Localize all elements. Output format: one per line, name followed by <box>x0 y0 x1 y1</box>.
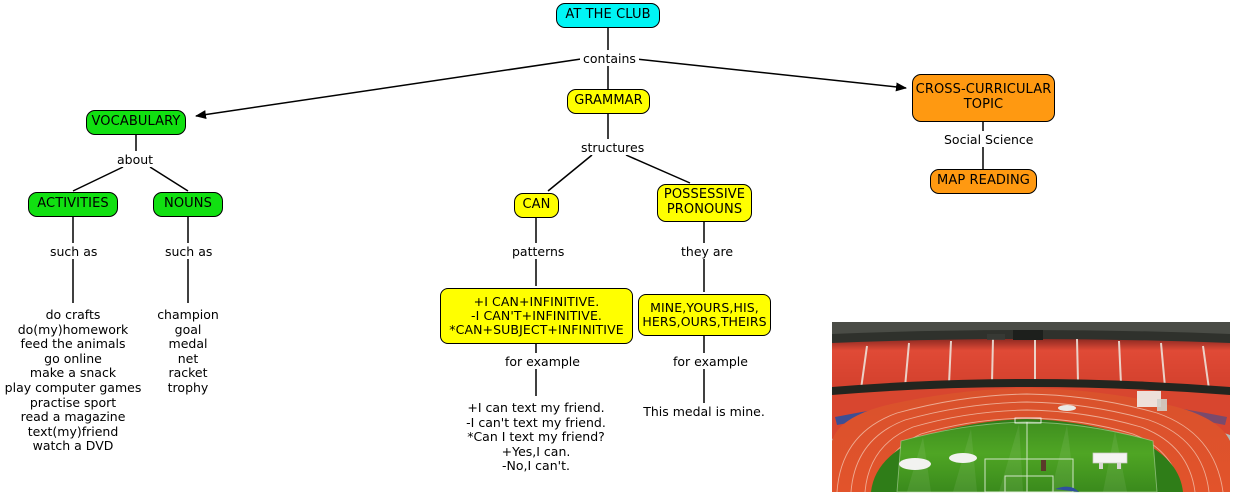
node-can[interactable]: CAN <box>514 193 559 218</box>
node-pronoun-list[interactable]: MINE,YOURS,HIS, HERS,OURS,THEIRS <box>638 294 771 336</box>
node-can-patterns[interactable]: +I CAN+INFINITIVE. -I CAN'T+INFINITIVE. … <box>440 288 633 344</box>
edge-label-about: about <box>114 152 156 167</box>
node-nouns[interactable]: NOUNS <box>153 192 223 217</box>
leaf-nouns-list: champion goal medal net racket trophy <box>138 308 238 396</box>
leaf-pronoun-example: This medal is mine. <box>634 405 774 420</box>
node-vocabulary[interactable]: VOCABULARY <box>86 110 186 135</box>
node-grammar[interactable]: GRAMMAR <box>567 89 650 114</box>
edge-label-for-example-pronouns: for example <box>670 354 751 369</box>
node-at-the-club[interactable]: AT THE CLUB <box>556 3 660 28</box>
edge-label-patterns: patterns <box>509 244 567 259</box>
edge-label-contains: contains <box>580 51 639 66</box>
concept-map-canvas: AT THE CLUB VOCABULARY GRAMMAR CROSS-CUR… <box>0 0 1237 499</box>
node-activities[interactable]: ACTIVITIES <box>28 192 118 217</box>
edge-label-they-are: they are <box>678 244 736 259</box>
edge-label-social-science: Social Science <box>941 132 1037 147</box>
edge-label-such-as-activities: such as <box>47 244 100 259</box>
edge-label-for-example-can: for example <box>502 354 583 369</box>
stadium-photo <box>827 313 1235 497</box>
node-cross-curricular-topic[interactable]: CROSS-CURRICULAR TOPIC <box>912 74 1055 122</box>
edge-label-such-as-nouns: such as <box>162 244 215 259</box>
node-possessive-pronouns[interactable]: POSSESSIVE PRONOUNS <box>657 184 752 222</box>
edge-label-structures: structures <box>578 140 647 155</box>
leaf-can-examples: +I can text my friend. -I can't text my … <box>456 401 616 474</box>
node-map-reading[interactable]: MAP READING <box>930 169 1037 194</box>
